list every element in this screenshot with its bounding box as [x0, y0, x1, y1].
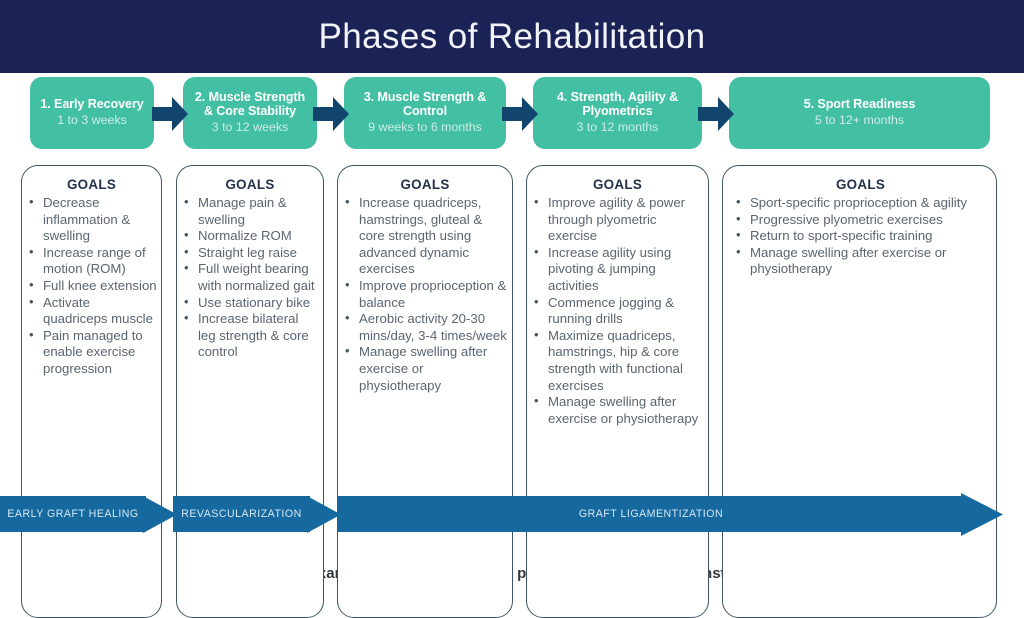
- goal-item: Increase bilateral leg strength & core c…: [181, 311, 319, 361]
- page-title: Phases of Rehabilitation: [318, 19, 705, 54]
- phase-chip-3-duration: 9 weeks to 6 months: [368, 120, 482, 135]
- goals-heading-4: GOALS: [531, 177, 704, 192]
- goal-item: Improve agility & power through plyometr…: [531, 195, 704, 245]
- banner-arrowhead-2: [307, 484, 341, 545]
- banner-label: GRAFT LIGAMENTIZATION: [575, 508, 727, 520]
- infographic-board: 1. Early Recovery 1 to 3 weeks 2. Muscle…: [0, 73, 1024, 561]
- goal-list-5: Sport-specific proprioception & agility …: [733, 195, 988, 278]
- goal-item: Sport-specific proprioception & agility: [733, 195, 988, 212]
- goal-item: Straight leg raise: [181, 245, 319, 262]
- goals-block-1: GOALS Decrease inflammation & swelling I…: [26, 177, 157, 378]
- goal-item: Increase quadriceps, hamstrings, gluteal…: [342, 195, 508, 278]
- goal-item: Return to sport-specific training: [733, 228, 988, 245]
- goal-item: Improve proprioception & balance: [342, 278, 508, 311]
- goals-heading-5: GOALS: [733, 177, 988, 192]
- goal-list-2: Manage pain & swelling Normalize ROM Str…: [181, 195, 319, 361]
- phase-chip-5[interactable]: 5. Sport Readiness 5 to 12+ months: [729, 77, 990, 149]
- goal-list-1: Decrease inflammation & swelling Increas…: [26, 195, 157, 378]
- goal-list-4: Improve agility & power through plyometr…: [531, 195, 704, 427]
- goals-heading-1: GOALS: [26, 177, 157, 192]
- goals-block-5: GOALS Sport-specific proprioception & ag…: [733, 177, 988, 278]
- goal-item: Commence jogging & running drills: [531, 295, 704, 328]
- phase-chip-1-title: 1. Early Recovery: [40, 97, 143, 112]
- goal-item: Manage swelling after exercise or physio…: [342, 344, 508, 394]
- goals-block-3: GOALS Increase quadriceps, hamstrings, g…: [342, 177, 508, 394]
- phase-arrow-4-to-5: [698, 97, 734, 131]
- phase-chip-2-title: 2. Muscle Strength & Core Stability: [189, 90, 311, 119]
- phase-chip-1-duration: 1 to 3 weeks: [57, 113, 127, 128]
- phase-chip-2[interactable]: 2. Muscle Strength & Core Stability 3 to…: [183, 77, 317, 149]
- goals-heading-2: GOALS: [181, 177, 319, 192]
- banner-revascularization: REVASCULARIZATION: [173, 496, 310, 532]
- goal-item: Full weight bearing with normalized gait: [181, 261, 319, 294]
- phase-chip-4[interactable]: 4. Strength, Agility & Plyometrics 3 to …: [533, 77, 702, 149]
- goal-item: Activate quadriceps muscle: [26, 295, 157, 328]
- header-bar: Phases of Rehabilitation: [0, 0, 1024, 73]
- banner-arrowhead-3: [961, 481, 1003, 548]
- goal-item: Increase agility using pivoting & jumpin…: [531, 245, 704, 295]
- phase-arrow-1-to-2: [152, 97, 188, 131]
- banner-arrowhead-1: [143, 484, 177, 545]
- phase-chip-4-title: 4. Strength, Agility & Plyometrics: [539, 90, 696, 119]
- goal-item: Maximize quadriceps, hamstrings, hip & c…: [531, 328, 704, 394]
- goal-item: Manage swelling after exercise or physio…: [531, 394, 704, 427]
- goal-item: Full knee extension: [26, 278, 157, 295]
- goal-item: Progressive plyometric exercises: [733, 212, 988, 229]
- phase-chip-5-duration: 5 to 12+ months: [815, 113, 904, 128]
- banner-graft-ligamentization: GRAFT LIGAMENTIZATION: [338, 496, 964, 532]
- phase-chip-3-title: 3. Muscle Strength & Control: [350, 90, 500, 119]
- goal-list-3: Increase quadriceps, hamstrings, gluteal…: [342, 195, 508, 394]
- phase-chip-1[interactable]: 1. Early Recovery 1 to 3 weeks: [30, 77, 154, 149]
- banner-label: REVASCULARIZATION: [177, 508, 306, 520]
- goal-item: Decrease inflammation & swelling: [26, 195, 157, 245]
- goal-item: Pain managed to enable exercise progress…: [26, 328, 157, 378]
- goal-item: Normalize ROM: [181, 228, 319, 245]
- goals-block-2: GOALS Manage pain & swelling Normalize R…: [181, 177, 319, 361]
- phase-arrow-3-to-4: [502, 97, 538, 131]
- goals-block-4: GOALS Improve agility & power through pl…: [531, 177, 704, 427]
- banner-label: EARLY GRAFT HEALING: [3, 508, 142, 520]
- goal-item: Manage swelling after exercise or physio…: [733, 245, 988, 278]
- phase-chip-4-duration: 3 to 12 months: [577, 120, 659, 135]
- goal-item: Increase range of motion (ROM): [26, 245, 157, 278]
- phase-chip-2-duration: 3 to 12 weeks: [212, 120, 288, 135]
- goal-item: Use stationary bike: [181, 295, 319, 312]
- goals-heading-3: GOALS: [342, 177, 508, 192]
- goal-item: Aerobic activity 20-30 mins/day, 3-4 tim…: [342, 311, 508, 344]
- goal-item: Manage pain & swelling: [181, 195, 319, 228]
- phase-chip-3[interactable]: 3. Muscle Strength & Control 9 weeks to …: [344, 77, 506, 149]
- phase-chip-5-title: 5. Sport Readiness: [804, 97, 916, 112]
- banner-early-graft-healing: EARLY GRAFT HEALING: [0, 496, 146, 532]
- phase-arrow-2-to-3: [313, 97, 349, 131]
